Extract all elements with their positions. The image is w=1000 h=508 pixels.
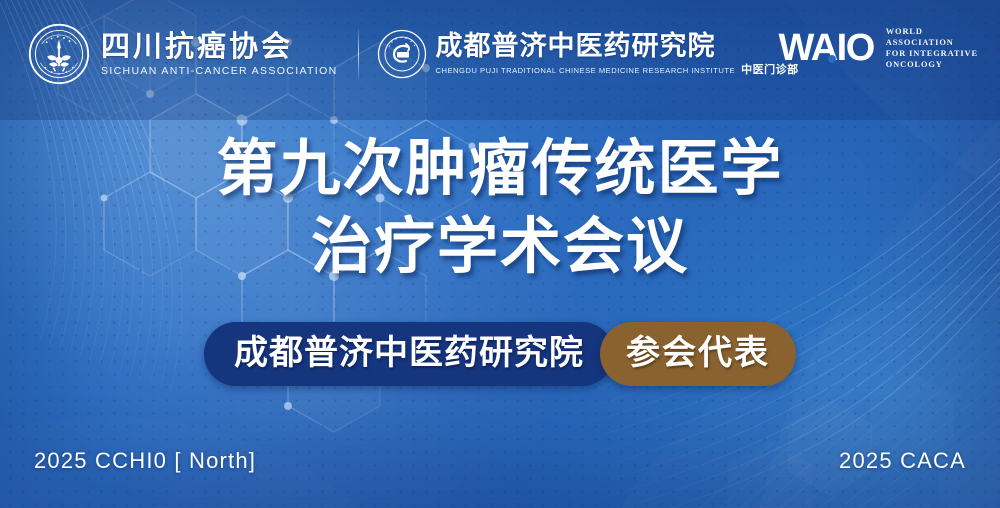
conference-title-line-1: 第九次肿瘤传统医学 [216,133,783,204]
badge-row: 成都普济中医药研究院 参会代表 [0,322,1000,386]
waio-line-1: WORLD [886,26,978,37]
footer-left-text: 2025 CCHI0 [ North] [34,448,256,474]
header-logo-row: 四川抗癌协会 SICHUAN ANTI-CANCER ASSOCIATION [0,0,1000,108]
conference-title-line-2: 治疗学术会议 [0,208,1000,286]
waio-line-2: ASSOCIATION [886,37,978,48]
waio-wordmark: WAIO [778,29,873,67]
logo-divider [358,28,359,80]
caca-name-cn: 四川抗癌协会 [101,31,338,61]
conference-title: 第九次肿瘤传统医学 治疗学术会议 [0,130,1000,286]
conference-banner: 四川抗癌协会 SICHUAN ANTI-CANCER ASSOCIATION [0,0,1000,508]
badge-role: 参会代表 [600,322,796,386]
chengdu-puji-institute-emblem [377,29,427,79]
chengdu-puji-institute-logo: 成都普济中医药研究院 CHENGDU PUJI TRADITIONAL CHIN… [377,29,799,79]
sichuan-anti-cancer-association-emblem [28,23,90,85]
waio-full-name: WORLD ASSOCIATION FOR INTEGRATIVE ONCOLO… [886,26,978,70]
waio-line-3: FOR INTEGRATIVE [886,48,978,59]
caca-name-en: SICHUAN ANTI-CANCER ASSOCIATION [101,65,338,77]
waio-logo: WAIO WORLD ASSOCIATION FOR INTEGRATIVE O… [778,26,978,70]
sichuan-anti-cancer-association-logo: 四川抗癌协会 SICHUAN ANTI-CANCER ASSOCIATION [28,23,338,85]
waio-line-4: ONCOLOGY [886,59,978,70]
puji-name-cn: 成都普济中医药研究院 [436,33,799,61]
puji-name-en: CHENGDU PUJI TRADITIONAL CHINESE MEDICIN… [436,66,736,75]
waio-dot-icon [828,55,836,63]
footer-right-text: 2025 CACA [839,448,966,474]
badge-organization: 成都普济中医药研究院 [204,322,614,386]
